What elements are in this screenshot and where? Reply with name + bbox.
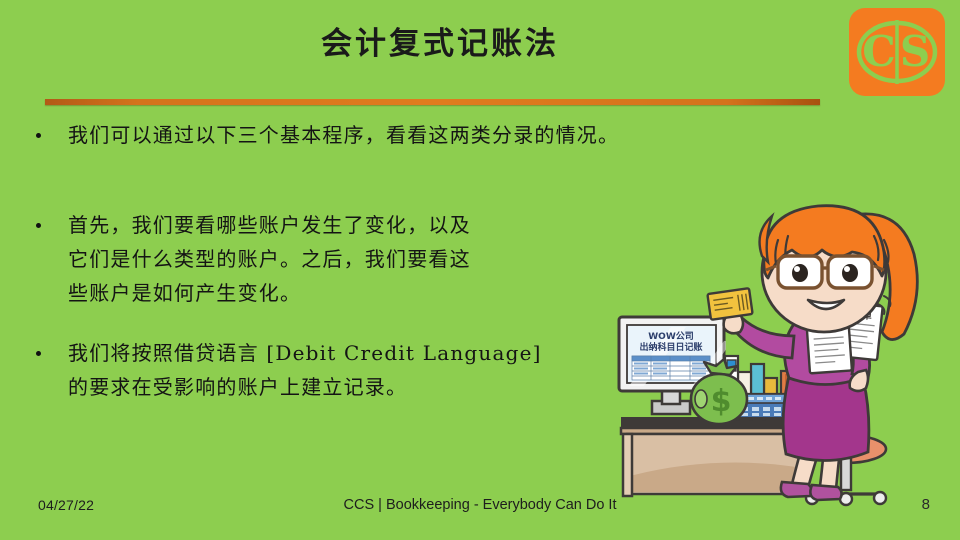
accountant-at-desk-illustration: WOW公司 出纳科目日记账 [596,196,960,518]
illustration-svg: WOW公司 出纳科目日记账 [596,196,960,518]
bullet-item: 我们可以通过以下三个基本程序，看看这两类分录的情况。 [36,118,728,152]
title-divider [45,99,820,105]
bullet-item: 首先，我们要看哪些账户发生了变化，以及 它们是什么类型的账户。之后，我们要看这 … [36,208,588,310]
bullet-text: 我们将按照借贷语言 [Debit Credit Language] 的要求在受影… [52,336,588,404]
page-title: 会计复式记账法 [60,22,820,66]
monitor-title-line2: 出纳科目日记账 [639,341,702,353]
bullet-marker [36,118,52,138]
receipt-ticket [707,288,752,320]
bullet-marker [36,208,52,228]
ccs-logo-svg: C S [846,6,948,98]
svg-text:S: S [900,27,930,76]
ccs-logo[interactable]: C S [846,6,948,98]
page-number: 8 [922,496,930,513]
slide-canvas: C S 会计复式记账法 我们可以通过以下三个基本程序，看看这两类分录的情况。 首… [0,0,960,540]
bullet-item: 我们将按照借贷语言 [Debit Credit Language] 的要求在受影… [36,336,588,404]
bullet-marker [36,336,52,356]
svg-text:C: C [862,27,895,76]
bullet-text: 我们可以通过以下三个基本程序，看看这两类分录的情况。 [52,118,728,152]
monitor-title-line1: WOW公司 [648,331,694,342]
footer-center-text: CCS | Bookkeeping - Everybody Can Do It [0,497,960,513]
money-bag-symbol: $ [711,384,732,419]
bullet-text: 首先，我们要看哪些账户发生了变化，以及 它们是什么类型的账户。之后，我们要看这 … [52,208,588,310]
